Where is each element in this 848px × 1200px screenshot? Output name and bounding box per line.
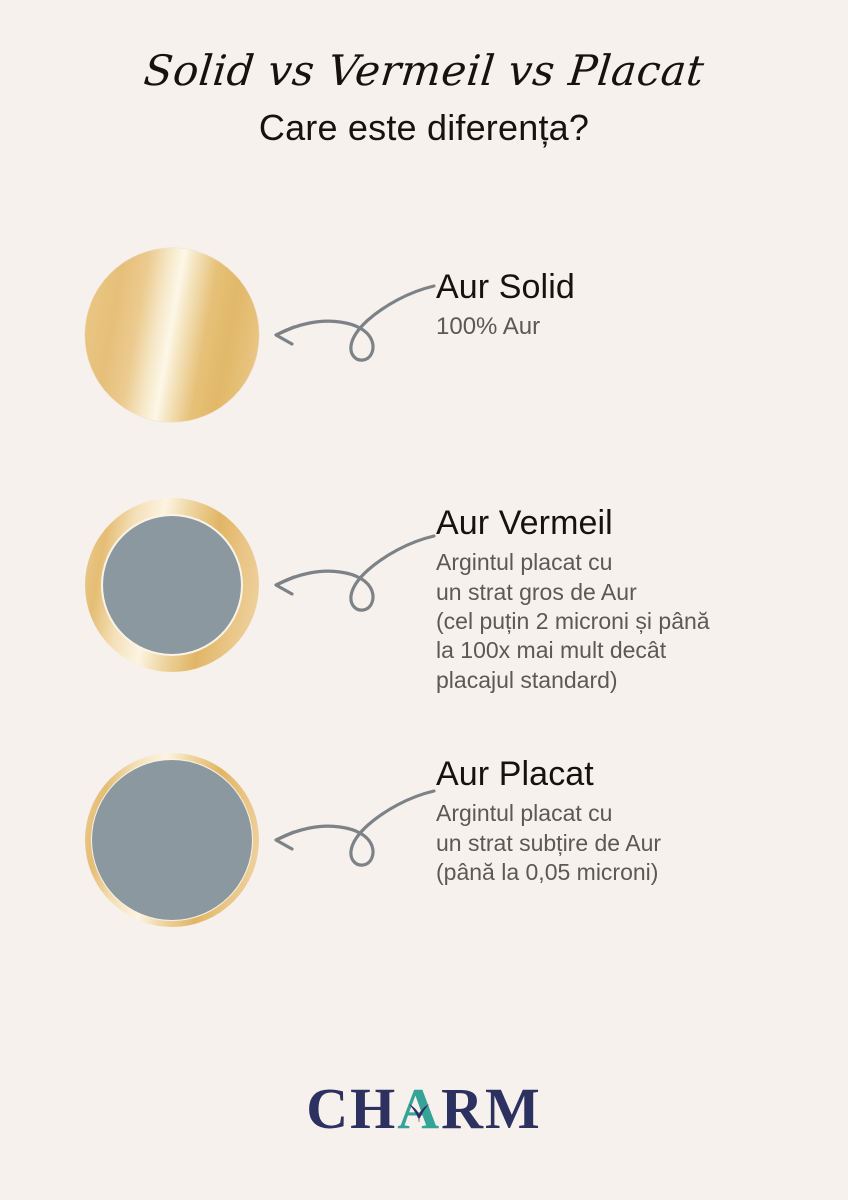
heading-aur-solid: Aur Solid (436, 268, 816, 306)
curly-arrow-left-icon-solid (258, 268, 438, 368)
curly-arrow-left-icon-vermeil (258, 518, 438, 618)
footer: CHA RM (0, 1080, 848, 1138)
text-block-solid: Aur Solid 100% Aur (436, 268, 816, 343)
row-vermeil: Aur Vermeil Argintul placat cu un strat … (0, 490, 848, 680)
logo-letter-a: A (397, 1076, 441, 1141)
body-aur-vermeil: Argintul placat cu un strat gros de Aur … (436, 548, 816, 695)
swallow-bird-icon (406, 1098, 432, 1124)
silver-core-thin (92, 760, 252, 920)
charm-logo: CHA RM (306, 1080, 542, 1138)
circle-vermeil (85, 498, 259, 672)
curly-arrow-left-icon-placat (258, 773, 438, 873)
page-title: Solid vs Vermeil vs Placat (0, 48, 848, 94)
row-placat: Aur Placat Argintul placat cu un strat s… (0, 745, 848, 935)
text-block-placat: Aur Placat Argintul placat cu un strat s… (436, 755, 816, 887)
logo-text-part1: CH (306, 1076, 397, 1141)
solid-gold-disc-icon (85, 248, 259, 422)
body-aur-solid: 100% Aur (436, 312, 816, 343)
logo-text-part2: RM (441, 1076, 542, 1141)
silver-core-thick (103, 516, 241, 654)
circle-solid-gold (85, 248, 259, 422)
body-aur-placat: Argintul placat cu un strat subțire de A… (436, 799, 816, 887)
text-block-vermeil: Aur Vermeil Argintul placat cu un strat … (436, 504, 816, 695)
infographic-page: Solid vs Vermeil vs Placat Care este dif… (0, 0, 848, 1200)
circle-placat (85, 753, 259, 927)
heading-aur-vermeil: Aur Vermeil (436, 504, 816, 542)
heading-aur-placat: Aur Placat (436, 755, 816, 793)
row-solid: Aur Solid 100% Aur (0, 240, 848, 430)
header: Solid vs Vermeil vs Placat Care este dif… (0, 48, 848, 148)
page-subtitle: Care este diferența? (0, 108, 848, 148)
